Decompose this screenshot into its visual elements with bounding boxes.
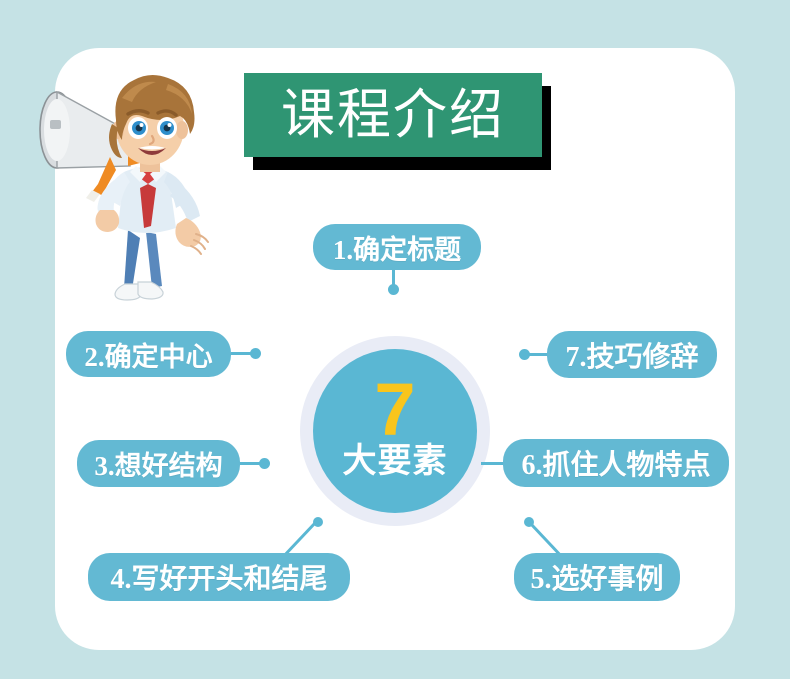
- item-label-5: 5.选好事例: [530, 557, 663, 597]
- item-label-1: 1.确定标题: [333, 228, 461, 267]
- item-label-3: 3.想好结构: [94, 444, 222, 483]
- item-pill-7[interactable]: 7.技巧修辞: [547, 331, 717, 378]
- item-pill-2[interactable]: 2.确定中心: [66, 331, 231, 377]
- infographic-stage: 课程介绍 7 大要素 1.确定标题 2.确定中心 3.想好结构 4.写好开头和结…: [0, 0, 790, 679]
- item-label-4: 4.写好开头和结尾: [110, 557, 327, 597]
- item-pill-6[interactable]: 6.抓住人物特点: [503, 439, 729, 487]
- center-circle: 7 大要素: [313, 349, 477, 513]
- center-label: 大要素: [343, 444, 448, 478]
- item-label-7: 7.技巧修辞: [565, 335, 698, 375]
- item-label-6: 6.抓住人物特点: [521, 443, 710, 483]
- item-pill-5[interactable]: 5.选好事例: [514, 553, 680, 601]
- connector-dot-7: [519, 349, 530, 360]
- center-number: 7: [374, 380, 415, 441]
- page-title: 课程介绍: [281, 88, 505, 142]
- item-pill-1[interactable]: 1.确定标题: [313, 224, 481, 270]
- item-label-2: 2.确定中心: [84, 335, 212, 374]
- item-pill-3[interactable]: 3.想好结构: [77, 440, 240, 487]
- item-pill-4[interactable]: 4.写好开头和结尾: [88, 553, 350, 601]
- title-banner: 课程介绍: [244, 73, 542, 157]
- connector-dot-2: [250, 348, 261, 359]
- connector-dot-3: [259, 458, 270, 469]
- title-banner-body: 课程介绍: [244, 73, 542, 157]
- boy-with-megaphone-illustration: [28, 62, 256, 310]
- connector-dot-1: [388, 284, 399, 295]
